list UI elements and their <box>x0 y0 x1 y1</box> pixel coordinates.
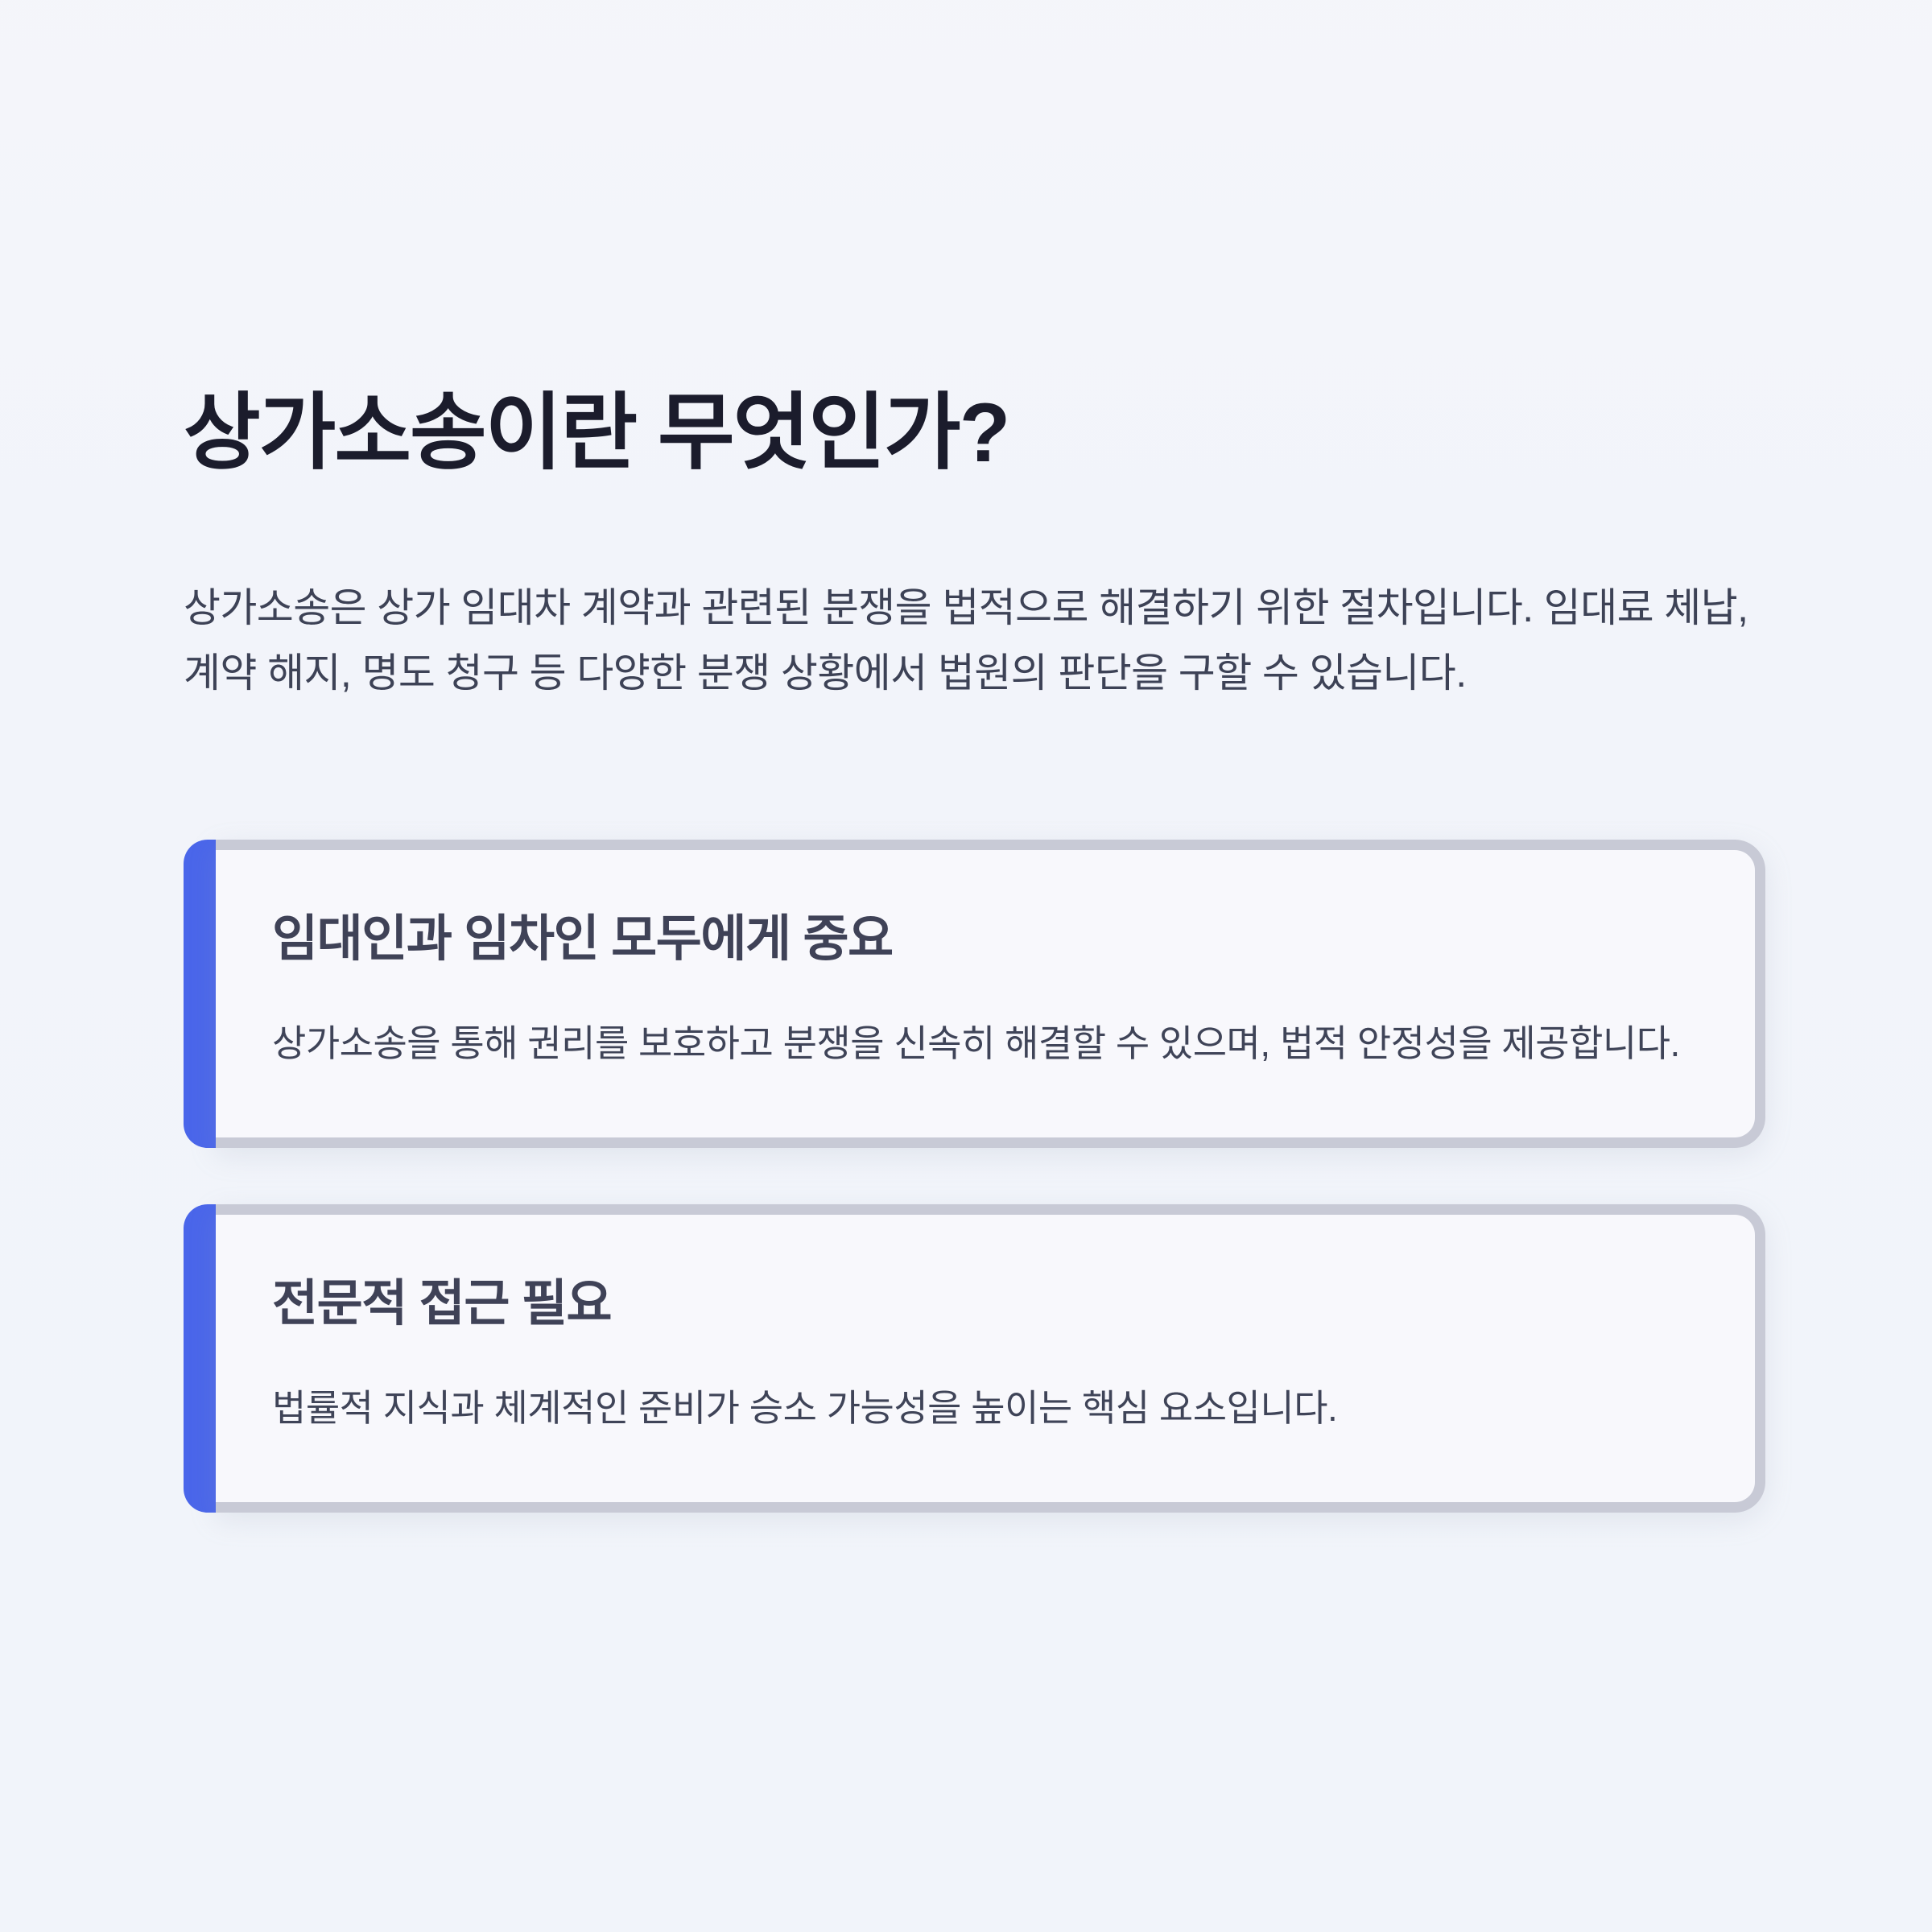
info-card[interactable]: 전문적 접근 필요 법률적 지식과 체계적인 준비가 승소 가능성을 높이는 핵… <box>184 1204 1765 1513</box>
info-card-list: 임대인과 임차인 모두에게 중요 상가소송을 통해 권리를 보호하고 분쟁을 신… <box>184 840 1765 1569</box>
intro-paragraph: 상가소송은 상가 임대차 계약과 관련된 분쟁을 법적으로 해결하기 위한 절차… <box>184 576 1761 706</box>
card-content: 임대인과 임차인 모두에게 중요 상가소송을 통해 권리를 보호하고 분쟁을 신… <box>216 840 1765 1148</box>
card-title: 전문적 접근 필요 <box>272 1274 1699 1334</box>
card-description: 상가소송을 통해 권리를 보호하고 분쟁을 신속히 해결할 수 있으며, 법적 … <box>272 1013 1699 1074</box>
slide-canvas: 상가소송이란 무엇인가? 상가소송은 상가 임대차 계약과 관련된 분쟁을 법적… <box>0 0 1932 1932</box>
page-title: 상가소송이란 무엇인가? <box>184 386 1633 480</box>
slide-content: 상가소송이란 무엇인가? 상가소송은 상가 임대차 계약과 관련된 분쟁을 법적… <box>184 0 1761 1932</box>
info-card[interactable]: 임대인과 임차인 모두에게 중요 상가소송을 통해 권리를 보호하고 분쟁을 신… <box>184 840 1765 1148</box>
card-description: 법률적 지식과 체계적인 준비가 승소 가능성을 높이는 핵심 요소입니다. <box>272 1377 1699 1439</box>
card-content: 전문적 접근 필요 법률적 지식과 체계적인 준비가 승소 가능성을 높이는 핵… <box>216 1204 1765 1513</box>
card-title: 임대인과 임차인 모두에게 중요 <box>272 910 1699 969</box>
